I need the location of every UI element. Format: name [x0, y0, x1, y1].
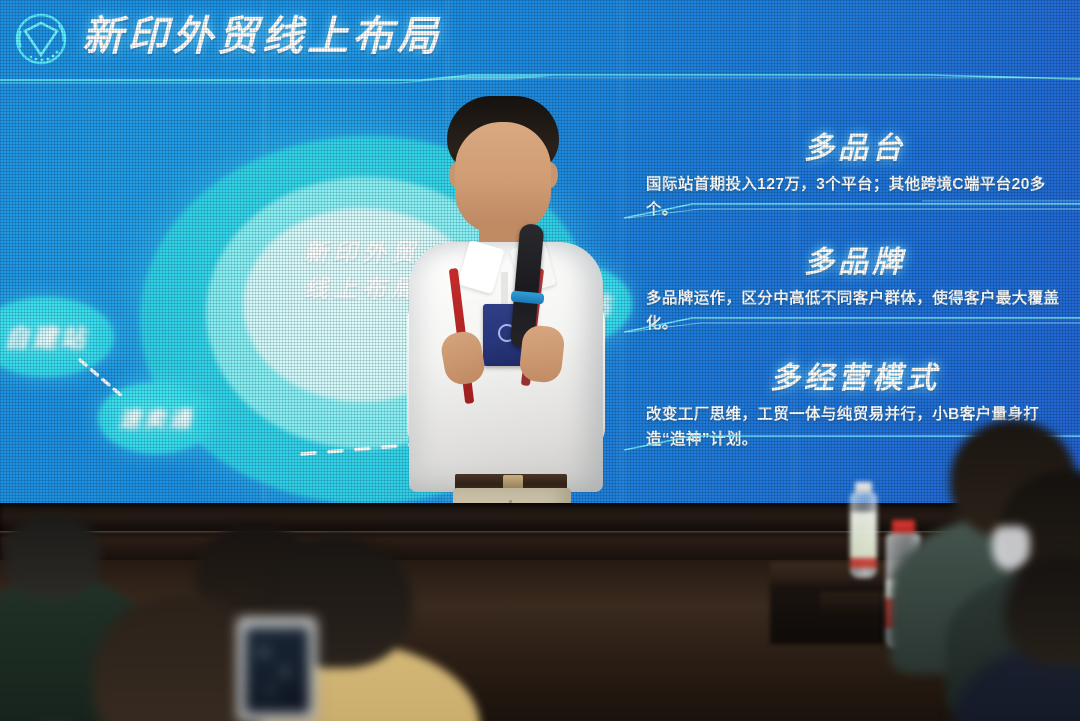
title-underline-decoration — [0, 74, 1080, 86]
slide-block-1: 多品台 国际站首期投入127万，3个平台；其他跨境C端平台20多个。 — [640, 130, 1070, 222]
bottle-label-band — [850, 558, 877, 568]
diagram-bubble-self-site-label: 自建站 — [4, 319, 88, 355]
presenter — [395, 96, 615, 516]
conference-presentation-photo: 新印外贸线上布局 新印外贸 线上布局 自建站 速卖通 际站 — [0, 0, 1080, 721]
circle-triangle-logo-icon — [8, 8, 74, 70]
diagram-bubble-aliexpress-label: 速卖通 — [118, 402, 193, 434]
slide-block-2-heading: 多品牌 — [640, 244, 1070, 282]
slide-block-2: 多品牌 多品牌运作，区分中高低不同客户群体，使得客户最大覆盖化。 — [640, 244, 1070, 336]
page-title: 新印外贸线上布局 — [82, 8, 442, 64]
slide-block-1-heading: 多品台 — [640, 130, 1070, 168]
diagram-connector-dashed-left — [78, 358, 124, 398]
booklet-cover-art — [244, 626, 310, 714]
bottle-cap — [892, 520, 915, 534]
bottle-label — [850, 512, 877, 558]
slide-text-panel: 多品台 国际站首期投入127万，3个平台；其他跨境C端平台20多个。 多品牌 多… — [640, 130, 1070, 464]
slide-block-2-body: 多品牌运作，区分中高低不同客户群体，使得客户最大覆盖化。 — [640, 286, 1070, 336]
water-bottle — [846, 482, 880, 578]
slide-block-1-body: 国际站首期投入127万，3个平台；其他跨境C端平台20多个。 — [640, 172, 1070, 222]
audience-head — [4, 512, 100, 598]
face-mask — [992, 526, 1030, 570]
presenter-face — [455, 122, 551, 234]
slide-title-bar: 新印外贸线上布局 — [0, 0, 1080, 86]
slide-block-3-heading: 多经营模式 — [640, 360, 1070, 398]
